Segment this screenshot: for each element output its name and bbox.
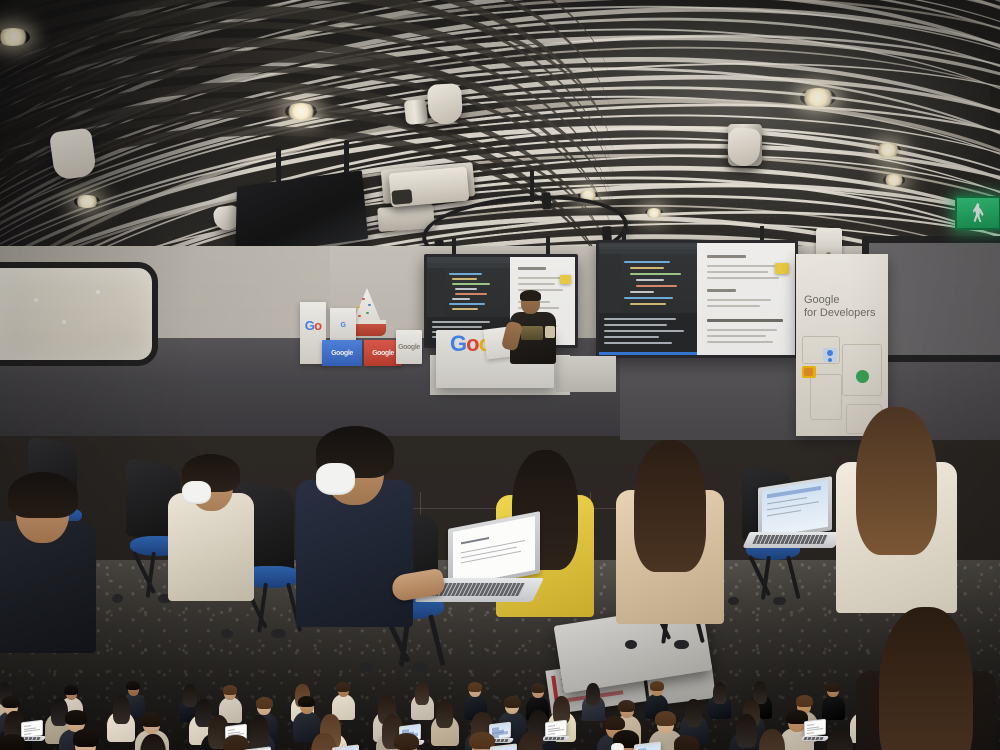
audience-hair	[65, 710, 86, 725]
audience-torso	[822, 695, 845, 721]
face-mask	[316, 463, 355, 495]
projector-lens	[391, 189, 412, 205]
laptop-screen	[635, 743, 659, 750]
laptop-screen-line	[807, 732, 814, 734]
audience-hair	[504, 696, 521, 708]
audience-hair	[468, 682, 482, 692]
audience-hair	[140, 734, 166, 750]
chair-caster	[677, 640, 689, 650]
audience-hair	[223, 685, 237, 695]
audience-hair	[618, 700, 635, 712]
audience-hair	[2, 696, 19, 708]
audience-hair	[685, 699, 702, 727]
ceiling	[0, 0, 1000, 270]
audience-hair	[73, 729, 99, 747]
audience-hair	[256, 697, 273, 709]
face-mask	[611, 743, 624, 750]
recessed-downlight	[883, 174, 905, 186]
audience-hair	[826, 683, 840, 693]
audience-hair	[634, 440, 706, 572]
laptop-screen-line	[767, 486, 821, 499]
audience-hair	[113, 695, 130, 723]
display-mount-arm	[276, 148, 281, 182]
audience-hair	[650, 681, 664, 691]
track-spotlight	[541, 192, 551, 210]
audience-hair	[336, 682, 350, 692]
audience-hair	[126, 681, 140, 691]
audience-member	[0, 732, 38, 750]
presenter-hair	[520, 290, 541, 301]
audience-hair	[856, 407, 937, 556]
laptop-screen	[334, 746, 358, 750]
sticky-note	[560, 275, 571, 284]
laptop-screen-line	[549, 725, 556, 727]
audience-hair	[518, 732, 544, 750]
running-man-icon	[970, 203, 986, 223]
banner-title-line1: Google	[804, 294, 884, 307]
chair-caster	[112, 594, 123, 603]
laptop-screen-line	[461, 537, 489, 544]
laptop-screen	[762, 480, 828, 537]
chair-caster	[625, 640, 637, 650]
chair-caster	[274, 629, 286, 639]
audience-hair	[796, 695, 813, 707]
recessed-downlight	[875, 143, 901, 157]
recessed-downlight	[800, 88, 836, 107]
audience-hair	[759, 729, 785, 750]
audience-member	[384, 731, 432, 750]
display-mount-arm	[344, 140, 349, 174]
audience-hair	[674, 735, 700, 750]
audience-member	[750, 727, 798, 750]
recessed-downlight	[285, 103, 317, 120]
screen-mount-pole	[546, 236, 550, 254]
laptop-screen-line	[767, 510, 801, 516]
audience-member	[821, 682, 847, 722]
audience-hair	[713, 682, 727, 705]
audience-member	[130, 732, 178, 750]
lecture-room-photo: Google Go G Google Google Google Goog	[0, 0, 1000, 750]
ceiling-speaker-pod	[49, 127, 97, 180]
banner-title-line2: for Developers	[804, 307, 884, 320]
chair-caster	[221, 629, 233, 639]
laptop-screen	[453, 516, 535, 586]
chair-caster	[416, 662, 429, 672]
audience-member	[664, 734, 712, 750]
laptop-screen-line	[549, 727, 560, 729]
laptop-base	[742, 532, 841, 548]
audience-hair	[298, 696, 315, 708]
laptop-screen	[492, 745, 516, 750]
audience-hair	[141, 712, 162, 727]
recessed-downlight	[74, 195, 100, 208]
audience-hair	[827, 729, 853, 750]
audience-hair	[586, 683, 600, 706]
banner-title: Google for Developers	[804, 294, 884, 321]
recessed-downlight	[645, 208, 663, 218]
surface-cylinder-light	[404, 99, 428, 125]
audience-hair	[436, 700, 453, 728]
face-mask	[182, 481, 211, 504]
audience-hair	[0, 734, 25, 750]
sticky-note	[775, 263, 789, 274]
exit-sign	[955, 196, 1000, 230]
chair-caster	[360, 662, 373, 672]
audience-hair	[879, 607, 972, 750]
audience-hair	[8, 472, 78, 518]
ceiling-speaker-pod	[427, 83, 463, 125]
audience-hair	[655, 711, 676, 726]
audience-hair	[64, 685, 78, 695]
audience-hair	[531, 683, 545, 693]
audience-hair	[415, 682, 429, 705]
audience-member	[63, 728, 111, 750]
audience-hair	[394, 733, 420, 750]
laptop-keyboard	[752, 535, 828, 544]
laptop-screen-line	[461, 551, 521, 564]
audience-member	[430, 699, 462, 748]
audience-hair	[223, 735, 249, 750]
